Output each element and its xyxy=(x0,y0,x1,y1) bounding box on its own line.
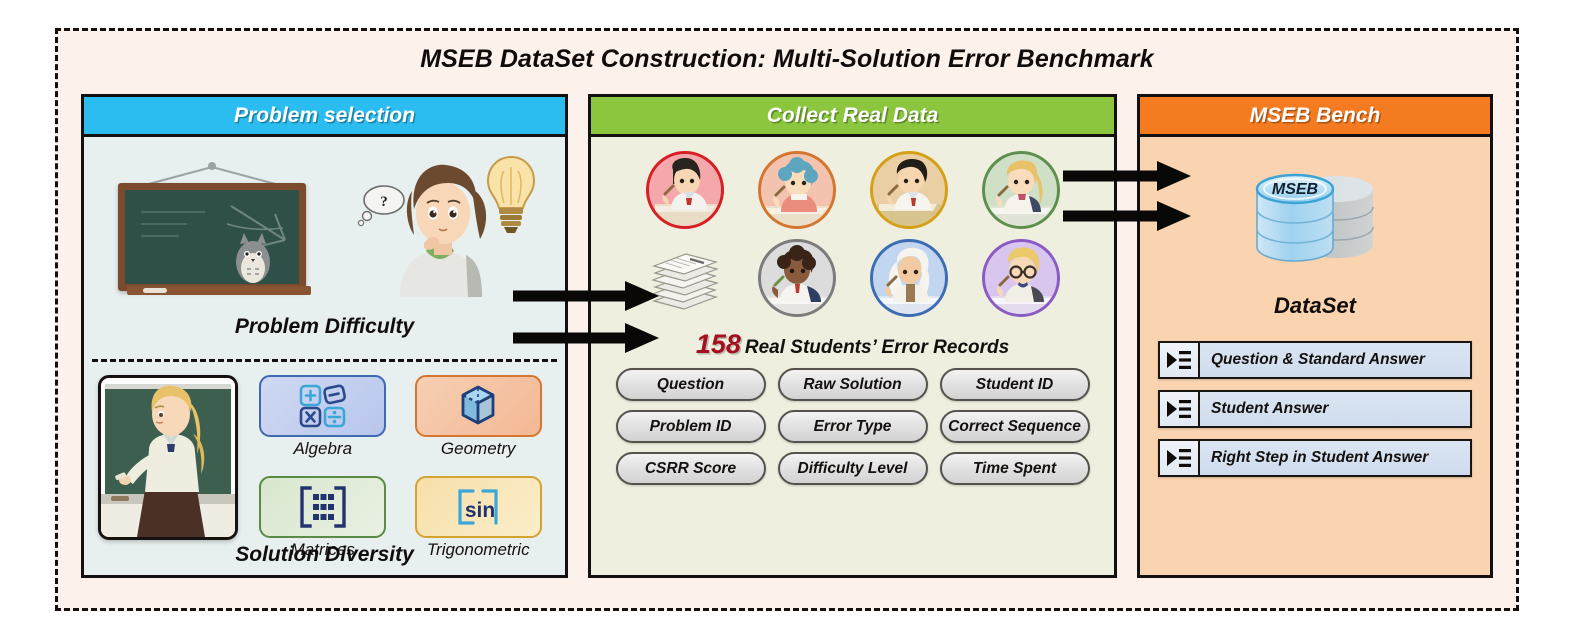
student-writing-icon xyxy=(873,154,945,226)
page-title: MSEB DataSet Construction: Multi-Solutio… xyxy=(58,45,1516,74)
database-label: MSEB xyxy=(1272,181,1318,198)
student-writing-icon xyxy=(649,154,721,226)
label-solution-diversity: Solution Diversity xyxy=(84,543,565,567)
arrow-left-to-middle-top xyxy=(513,279,663,313)
tag-time-spent[interactable]: Time Spent xyxy=(940,452,1090,485)
tag-difficulty-level[interactable]: Difficulty Level xyxy=(778,452,928,485)
bench-item-label: Student Answer xyxy=(1200,392,1470,426)
tag-question[interactable]: Question xyxy=(616,368,766,401)
student-avatar-3[interactable] xyxy=(870,151,948,229)
playlist-icon xyxy=(1160,392,1200,426)
outer-dashed-frame: MSEB DataSet Construction: Multi-Solutio… xyxy=(55,28,1519,611)
chalkboard-illustration xyxy=(112,161,312,297)
topic-card-algebra[interactable]: Algebra xyxy=(254,375,392,474)
student-writing-icon xyxy=(873,242,945,314)
student-avatar-row-2 xyxy=(591,229,1114,317)
arrow-middle-to-right-top xyxy=(1063,159,1195,193)
records-count-line: 158Real Students’ Error Records xyxy=(591,329,1114,360)
matrix-brackets-icon xyxy=(297,485,349,529)
tag-raw-solution[interactable]: Raw Solution xyxy=(778,368,928,401)
topic-card-geometry[interactable]: Geometry xyxy=(410,375,548,474)
totoro-figure-icon xyxy=(229,228,277,284)
panel-header-problem-selection: Problem selection xyxy=(84,97,565,137)
problem-difficulty-section: ? xyxy=(84,137,565,359)
bench-item-student-answer[interactable]: Student Answer xyxy=(1158,390,1472,428)
teacher-at-chalkboard-photo xyxy=(98,375,238,540)
student-avatar-1[interactable] xyxy=(646,151,724,229)
panel-problem-selection: Problem selection xyxy=(81,94,568,578)
student-avatar-6[interactable] xyxy=(870,239,948,317)
arrow-left-to-middle-bottom xyxy=(513,321,663,355)
panel-header-mseb-bench: MSEB Bench xyxy=(1140,97,1490,137)
records-label: Real Students’ Error Records xyxy=(745,337,1009,358)
panel-collect-real-data: Collect Real Data xyxy=(588,94,1117,578)
diagram-canvas: MSEB DataSet Construction: Multi-Solutio… xyxy=(0,0,1574,637)
playlist-icon-glyph xyxy=(1166,447,1192,469)
panel-header-collect-real-data: Collect Real Data xyxy=(591,97,1114,137)
thought-bubble-icon: ? xyxy=(356,183,408,227)
teacher-illustration-icon xyxy=(101,378,235,537)
student-avatar-4[interactable] xyxy=(982,151,1060,229)
record-field-tag-grid: Question Raw Solution Student ID Problem… xyxy=(616,368,1090,485)
bench-item-label: Question & Standard Answer xyxy=(1200,343,1470,377)
tag-csrr-score[interactable]: CSRR Score xyxy=(616,452,766,485)
lightbulb-icon xyxy=(480,151,542,239)
sin-function-icon: sin xyxy=(451,485,505,529)
student-writing-icon xyxy=(761,154,833,226)
topic-label-geometry: Geometry xyxy=(441,439,516,459)
student-avatar-7[interactable] xyxy=(982,239,1060,317)
left-panel-divider xyxy=(92,359,557,362)
student-writing-icon xyxy=(985,242,1057,314)
tag-problem-id[interactable]: Problem ID xyxy=(616,410,766,443)
playlist-icon xyxy=(1160,343,1200,377)
cube-icon xyxy=(453,383,503,429)
tag-error-type[interactable]: Error Type xyxy=(778,410,928,443)
label-problem-difficulty: Problem Difficulty xyxy=(84,315,565,339)
tag-correct-sequence[interactable]: Correct Sequence xyxy=(940,410,1090,443)
topic-label-algebra: Algebra xyxy=(293,439,352,459)
student-avatar-row-1 xyxy=(591,137,1114,229)
svg-text:?: ? xyxy=(380,194,388,210)
dataset-label: DataSet xyxy=(1140,293,1490,319)
arithmetic-operators-icon xyxy=(299,384,347,428)
bench-item-question-standard-answer[interactable]: Question & Standard Answer xyxy=(1158,341,1472,379)
student-avatar-2[interactable] xyxy=(758,151,836,229)
thinking-student-illustration: ? xyxy=(348,147,538,297)
playlist-icon-glyph xyxy=(1166,398,1192,420)
student-writing-icon xyxy=(985,154,1057,226)
bench-item-right-step[interactable]: Right Step in Student Answer xyxy=(1158,439,1472,477)
playlist-icon xyxy=(1160,441,1200,475)
student-writing-icon xyxy=(761,242,833,314)
playlist-icon-glyph xyxy=(1166,349,1192,371)
svg-text:sin: sin xyxy=(465,499,495,522)
tag-student-id[interactable]: Student ID xyxy=(940,368,1090,401)
arrow-middle-to-right-bottom xyxy=(1063,199,1195,233)
bench-item-label: Right Step in Student Answer xyxy=(1200,441,1470,475)
database-cylinder-icon: MSEB xyxy=(1229,159,1401,285)
records-count: 158 xyxy=(696,329,741,359)
student-avatar-5[interactable] xyxy=(758,239,836,317)
bench-answer-list: Question & Standard Answer Student Answe… xyxy=(1158,341,1472,477)
